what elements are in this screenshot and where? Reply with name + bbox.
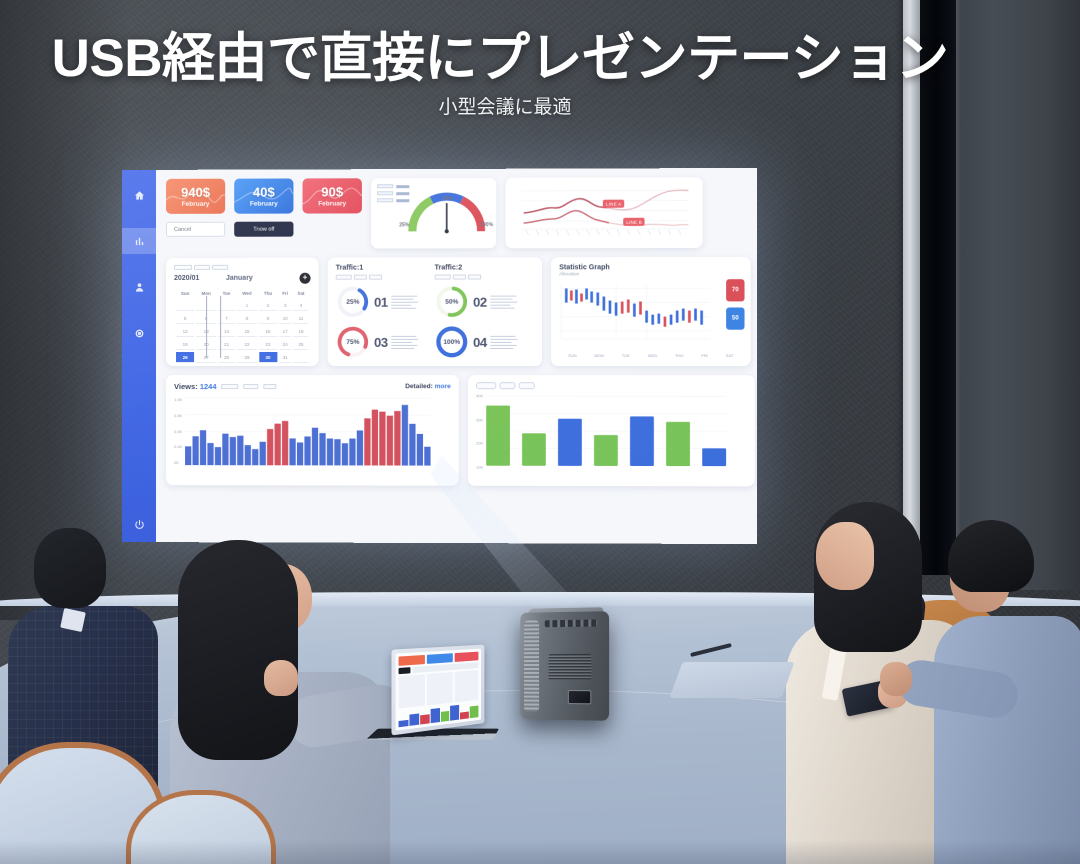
donut-chart: 75% (336, 325, 370, 359)
filter-pill[interactable] (519, 382, 535, 389)
traffic-item: 25% 01 (336, 285, 431, 319)
calendar-day[interactable]: 17 (279, 326, 291, 337)
stat-card-group: 940$ February 40$ February (166, 178, 362, 214)
filter-pill[interactable] (468, 274, 481, 279)
head-back (34, 528, 106, 608)
laptop-keyboard[interactable] (366, 729, 499, 740)
floor-shadow (0, 840, 1080, 864)
traffic-index: 04 (473, 335, 487, 348)
calendar-day[interactable]: 18 (293, 326, 308, 337)
axis-tick: MON (594, 353, 603, 358)
projector-vent (524, 620, 539, 711)
dashboard-row-2: 2020/01 January + Sun Mon Tue Wed Thu (166, 257, 755, 366)
hair (178, 540, 298, 760)
views-card: Views: 1244 Detailed: more (166, 375, 459, 486)
calendar-year-month: 2020/01 (174, 275, 199, 282)
filter-pill[interactable] (244, 384, 259, 389)
donut-chart: 25% (336, 285, 370, 319)
sparkline-icon (166, 179, 225, 214)
calendar-filter-pills[interactable] (174, 265, 311, 270)
calendar-day[interactable]: 19 (176, 339, 194, 350)
filter-pill[interactable] (453, 275, 466, 280)
sidebar-item-analytics[interactable] (122, 228, 156, 254)
views-label: Views: 1244 (174, 382, 217, 391)
candlestick-chart (559, 280, 712, 347)
calendar-day[interactable]: 9 (259, 313, 277, 324)
traffic-index: 01 (374, 295, 388, 308)
calendar-day[interactable]: 24 (279, 339, 291, 350)
donut-percent: 50% (435, 285, 469, 319)
page-title: USB経由で直接にプレゼンテーション (0, 16, 1000, 92)
green-y-axis: 400 300 200 100 (476, 393, 483, 469)
traffic-item: 100% 04 (435, 325, 530, 359)
calendar-week-row: 1 2 3 4 (176, 300, 309, 311)
axis-tick: 0K (174, 460, 182, 465)
projector-ports (545, 619, 597, 627)
user-icon (133, 281, 144, 292)
stat-period: February (182, 200, 210, 207)
filter-pill[interactable] (212, 265, 228, 270)
views-more-link[interactable]: more (435, 383, 451, 390)
projector-grill (549, 654, 592, 680)
projector-device (520, 611, 609, 721)
scene: USB経由で直接にプレゼンテーション 小型会議に最適 (0, 0, 1080, 864)
axis-tick: 0.4K (174, 444, 182, 449)
calendar-month-name: January (226, 275, 253, 282)
axis-tick: WED (648, 353, 658, 358)
calendar-day-selected[interactable]: 30 (259, 352, 277, 363)
hand (264, 660, 298, 696)
sparkline-icon (303, 178, 362, 213)
cancel-button[interactable]: Cancel (166, 222, 225, 237)
throw-off-button[interactable]: Trıow off (234, 222, 293, 237)
gauge-left-label: 25% (399, 222, 409, 228)
calendar-day[interactable]: 5 (176, 313, 194, 324)
donut-percent: 25% (336, 285, 370, 319)
traffic-text-placeholder (491, 294, 518, 309)
calendar-day[interactable]: 1 (237, 300, 257, 311)
gauge-top-label: 50% (443, 196, 453, 202)
calendar-week-row: 26 27 28 29 30 31 (176, 352, 309, 363)
sidebar-item-home[interactable] (126, 182, 152, 208)
filter-pill[interactable] (369, 275, 382, 280)
axis-tick: FRI (701, 353, 708, 358)
calendar-week-row: 12 13 14 15 16 17 18 (176, 326, 309, 337)
line-tooltip: LINE A (603, 200, 625, 208)
calendar-day[interactable] (293, 352, 308, 363)
axis-tick: 200 (476, 441, 483, 446)
calendar-divider (206, 296, 207, 358)
axis-tick: 300 (476, 417, 483, 422)
traffic-card: Traffic:1 (328, 257, 542, 366)
dashboard-board: 940$ February 40$ February (156, 168, 757, 544)
calendar-day-selected[interactable]: 26 (176, 352, 194, 363)
home-icon (133, 189, 144, 200)
axis-tick: SAT (726, 353, 734, 358)
calendar-weekday-row: Sun Mon Tue Wed Thu Fri Sat (176, 289, 309, 298)
filter-pill[interactable] (174, 265, 192, 270)
stat-card[interactable]: 90$ February (303, 178, 362, 213)
calendar-add-button[interactable]: + (299, 273, 310, 284)
calendar-day[interactable]: 15 (237, 326, 257, 337)
filter-pill[interactable] (476, 382, 496, 389)
laptop-dashboard (396, 649, 481, 731)
statistic-graph-subtitle: Allocation (559, 271, 742, 276)
weekday-header: Sun (176, 289, 194, 298)
views-y-axis: 1.0K 0.8K 0.6K 0.4K 0K (174, 395, 182, 467)
traffic-title: Traffic:2 (435, 264, 530, 271)
face (816, 522, 874, 590)
page-subtitle: 小型会議に最適 (0, 92, 1010, 119)
hand (880, 662, 912, 696)
sparkline-icon (234, 178, 293, 213)
axis-tick: 1.0K (174, 397, 182, 402)
traffic-title: Traffic:1 (336, 265, 431, 272)
filter-pill[interactable] (222, 384, 239, 389)
hair (948, 520, 1034, 592)
filter-pill[interactable] (194, 265, 210, 270)
stat-period: February (250, 200, 278, 207)
gauge-card: 25% 50% 100% (371, 178, 496, 249)
donut-chart: 100% (435, 325, 469, 359)
sidebar-item-users[interactable] (126, 274, 152, 300)
attendee-right-man (934, 520, 1080, 864)
legend-swatch (377, 184, 393, 188)
donut-percent: 75% (336, 325, 370, 359)
dashboard-row-3: Views: 1244 Detailed: more (166, 375, 755, 486)
app-sidebar (122, 170, 156, 542)
legend-swatch (377, 198, 393, 202)
weekday-header: Sat (293, 289, 308, 298)
gear-icon (133, 327, 144, 338)
calendar-day[interactable]: 22 (237, 339, 257, 350)
calendar-day[interactable]: 12 (176, 326, 194, 337)
legend-label (396, 185, 409, 188)
traffic-text-placeholder (392, 294, 419, 309)
axis-tick: 400 (476, 393, 483, 398)
filter-pill[interactable] (435, 275, 451, 280)
views-header: Views: 1244 Detailed: more (174, 382, 451, 391)
line-chart (514, 184, 695, 239)
calendar-day[interactable]: 11 (293, 313, 308, 324)
laptop[interactable] (372, 647, 496, 763)
axis-tick: 0.8K (174, 413, 182, 418)
filter-pill[interactable] (499, 382, 515, 389)
traffic-item: 50% 02 (435, 284, 530, 318)
trend-line-card: LINE A LINE B (505, 177, 702, 248)
axis-tick: TUE (622, 353, 630, 358)
views-detail-link[interactable]: Detailed: more (405, 383, 451, 390)
calendar-week-row: 19 20 21 22 23 24 25 (176, 339, 309, 350)
weekday-header: Thu (259, 289, 277, 298)
laptop-screen (391, 645, 484, 736)
traffic-filter-pills[interactable] (435, 274, 530, 279)
calendar-day[interactable]: 16 (259, 326, 277, 337)
axis-tick: SUN (568, 353, 577, 358)
calendar-day[interactable]: 25 (293, 339, 308, 350)
axis-tick: 0.6K (174, 429, 182, 434)
stats-and-buttons-group: 940$ February 40$ February (166, 178, 362, 249)
shirt-collar (60, 608, 86, 632)
statistic-badge-high[interactable]: 70 (726, 279, 744, 301)
calendar-week-row: 5 6 7 8 9 10 11 (176, 313, 309, 324)
donut-chart: 50% (435, 285, 469, 319)
traffic-text-placeholder (491, 334, 518, 349)
calendar-day[interactable]: 10 (279, 313, 291, 324)
notepad (669, 662, 794, 698)
projector-body (520, 611, 609, 721)
traffic-text-placeholder (392, 334, 419, 349)
dashboard-row-1: 940$ February 40$ February (166, 177, 755, 249)
weekday-header: Fri (279, 289, 291, 298)
filter-pill[interactable] (264, 384, 277, 389)
views-value: 1244 (200, 382, 217, 391)
traffic-column-1: Traffic:1 (336, 265, 435, 360)
dashboard-app: 940$ February 40$ February (122, 168, 757, 544)
calendar-day[interactable]: 8 (237, 313, 257, 324)
stat-card[interactable]: 940$ February (166, 179, 225, 214)
calendar-day[interactable]: 4 (293, 300, 308, 311)
green-filter-pills[interactable] (476, 382, 746, 389)
statistic-badge-low[interactable]: 50 (726, 307, 744, 329)
action-button-row: Cancel Trıow off (166, 221, 362, 236)
gauge-right-label: 100% (480, 222, 493, 228)
stat-card[interactable]: 40$ February (234, 178, 293, 213)
calendar-grid: Sun Mon Tue Wed Thu Fri Sat (174, 287, 311, 365)
calendar-card: 2020/01 January + Sun Mon Tue Wed Thu (166, 258, 319, 366)
traffic-column-2: Traffic:2 (435, 264, 534, 359)
axis-tick: THU (675, 353, 683, 358)
weekday-header: Wed (237, 289, 257, 298)
legend-swatch (377, 191, 393, 195)
calendar-day[interactable]: 31 (279, 352, 291, 363)
filter-pill[interactable] (354, 275, 367, 280)
statistic-graph-axis: SUN MON TUE WED THU FRI SAT (559, 353, 742, 358)
sidebar-item-settings[interactable] (126, 320, 152, 346)
traffic-filter-pills[interactable] (336, 275, 431, 280)
calendar-day[interactable]: 23 (259, 339, 277, 350)
shirt (934, 616, 1080, 864)
traffic-index: 02 (473, 295, 487, 308)
stat-period: February (318, 200, 346, 207)
filter-pill[interactable] (336, 275, 352, 280)
calendar-day[interactable]: 3 (279, 300, 291, 311)
category-bar-card: 400 300 200 100 (468, 375, 755, 486)
projector-lens (568, 690, 591, 704)
calendar-day[interactable] (176, 300, 194, 311)
chart-icon (133, 235, 144, 246)
calendar-day[interactable]: 2 (259, 300, 277, 311)
projected-screen: 940$ February 40$ February (122, 170, 750, 542)
calendar-day[interactable]: 29 (237, 352, 257, 363)
traffic-index: 03 (374, 335, 388, 348)
statistic-graph-card: Statistic Graph Allocation (551, 257, 751, 366)
axis-tick: 100 (476, 465, 483, 470)
donut-percent: 100% (435, 325, 469, 359)
line-tooltip: LINE B (623, 218, 645, 226)
calendar-header: 2020/01 January + (174, 273, 311, 284)
category-bar-chart (486, 393, 726, 472)
traffic-item: 75% 03 (336, 325, 431, 359)
calendar-divider (220, 296, 221, 358)
views-bar-chart (185, 395, 431, 470)
